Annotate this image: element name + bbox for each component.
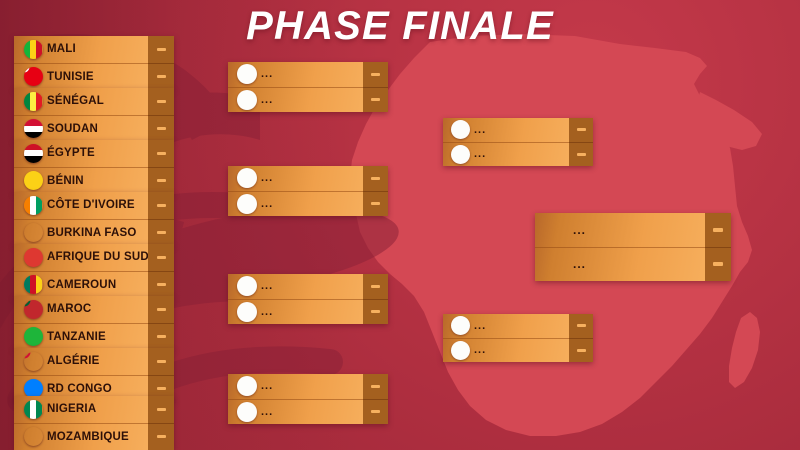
score-panel[interactable]: [363, 374, 388, 424]
team-name-placeholder: ...: [573, 223, 586, 237]
team-name: ÉGYPTE: [47, 147, 95, 159]
score-cell[interactable]: [148, 296, 174, 323]
score-placeholder-dash: [577, 153, 586, 156]
team-name-placeholder: ...: [261, 172, 273, 184]
match-final[interactable]: ... ...: [535, 213, 731, 281]
match-qf-1[interactable]: ... ...: [228, 62, 388, 112]
score-cell[interactable]: [148, 396, 174, 423]
team-row[interactable]: ...: [228, 62, 363, 87]
team-name: BÉNIN: [47, 175, 84, 187]
team-row[interactable]: ...: [228, 87, 363, 113]
score-placeholder-dash: [577, 324, 586, 327]
flag-nigeria-icon: [14, 400, 47, 419]
match-sf-2[interactable]: ... ...: [443, 314, 593, 362]
score-placeholder-dash: [157, 256, 166, 259]
team-row[interactable]: ...: [228, 374, 363, 399]
team-name: TANZANIE: [47, 331, 106, 343]
team-row[interactable]: TUNISIE: [14, 63, 148, 91]
score-cell[interactable]: [363, 62, 388, 87]
team-row[interactable]: ...: [228, 166, 363, 191]
score-placeholder-dash: [371, 285, 380, 288]
flag-placeholder-icon: [228, 276, 261, 296]
score-placeholder-dash: [157, 204, 166, 207]
score-placeholder-dash: [371, 385, 380, 388]
score-placeholder-dash: [371, 73, 380, 76]
flag-cameroun-icon: [14, 275, 47, 294]
team-name-placeholder: ...: [261, 380, 273, 392]
score-cell[interactable]: [705, 247, 731, 282]
score-cell[interactable]: [148, 115, 174, 143]
flag-tanzanie-icon: [14, 327, 47, 346]
match-r16-5[interactable]: AFRIQUE DU SUD CAMEROUN: [14, 244, 174, 298]
score-cell[interactable]: [148, 36, 174, 63]
team-row[interactable]: SOUDAN: [14, 115, 148, 143]
match-sf-1[interactable]: ... ...: [443, 118, 593, 166]
team-name: CAMEROUN: [47, 279, 116, 291]
team-name: MAROC: [47, 303, 91, 315]
team-name-placeholder: ...: [261, 68, 273, 80]
match-qf-4[interactable]: ... ...: [228, 374, 388, 424]
team-row[interactable]: ...: [228, 274, 363, 299]
flag-afrique-du-sud-icon: [14, 248, 47, 267]
team-name: ALGÉRIE: [47, 355, 100, 367]
team-name-placeholder: ...: [261, 198, 273, 210]
score-cell[interactable]: [148, 423, 174, 450]
team-row[interactable]: ...: [535, 247, 705, 282]
match-qf-3[interactable]: ... ...: [228, 274, 388, 324]
team-name-placeholder: ...: [261, 280, 273, 292]
team-name: AFRIQUE DU SUD: [47, 251, 148, 263]
score-cell[interactable]: [363, 399, 388, 425]
score-panel[interactable]: [363, 166, 388, 216]
score-panel[interactable]: [569, 118, 593, 166]
score-placeholder-dash: [713, 228, 723, 232]
score-placeholder-dash: [371, 410, 380, 413]
score-cell[interactable]: [148, 348, 174, 375]
team-row[interactable]: ...: [535, 213, 705, 247]
flag-placeholder-icon: [228, 90, 261, 110]
match-r16-2[interactable]: SÉNÉGAL SOUDAN: [14, 88, 174, 142]
team-row[interactable]: ALGÉRIE: [14, 348, 148, 375]
score-placeholder-dash: [577, 349, 586, 352]
score-panel[interactable]: [569, 314, 593, 362]
flag-placeholder-icon: [228, 64, 261, 84]
flag-placeholder-icon: [228, 302, 261, 322]
team-row[interactable]: ...: [443, 314, 569, 338]
flag-placeholder-icon: [228, 376, 261, 396]
score-placeholder-dash: [157, 75, 166, 78]
team-row[interactable]: BÉNIN: [14, 167, 148, 195]
team-name-placeholder: ...: [474, 124, 486, 136]
team-row[interactable]: ...: [228, 191, 363, 217]
flag-egypte-icon: [14, 144, 47, 163]
score-placeholder-dash: [371, 202, 380, 205]
score-panel[interactable]: [148, 140, 174, 194]
team-row[interactable]: ...: [228, 399, 363, 425]
flag-placeholder-icon: [443, 316, 474, 335]
team-name-placeholder: ...: [261, 306, 273, 318]
score-placeholder-dash: [157, 283, 166, 286]
score-cell[interactable]: [363, 274, 388, 299]
score-cell[interactable]: [569, 142, 593, 167]
score-cell[interactable]: [363, 191, 388, 217]
team-row[interactable]: MAROC: [14, 296, 148, 323]
score-cell[interactable]: [148, 271, 174, 299]
score-panel[interactable]: [148, 192, 174, 246]
score-panel[interactable]: [363, 62, 388, 112]
team-name: SÉNÉGAL: [47, 95, 104, 107]
flag-benin-icon: [14, 171, 47, 190]
flag-algerie-icon: [14, 352, 47, 371]
match-r16-4[interactable]: CÔTE D'IVOIRE BURKINA FASO: [14, 192, 174, 246]
score-placeholder-dash: [157, 408, 166, 411]
flag-soudan-icon: [14, 119, 47, 138]
score-panel[interactable]: [148, 88, 174, 142]
flag-mali-icon: [14, 40, 47, 59]
team-name: MOZAMBIQUE: [47, 431, 129, 443]
score-placeholder-dash: [157, 387, 166, 390]
score-placeholder-dash: [157, 100, 166, 103]
score-placeholder-dash: [371, 310, 380, 313]
score-cell[interactable]: [148, 192, 174, 219]
team-name-placeholder: ...: [261, 94, 273, 106]
team-name: CÔTE D'IVOIRE: [47, 199, 135, 211]
flag-burkina-faso-icon: [14, 223, 47, 242]
score-panel[interactable]: [148, 36, 174, 90]
score-cell[interactable]: [363, 299, 388, 325]
flag-placeholder-icon: [443, 341, 474, 360]
team-row[interactable]: BURKINA FASO: [14, 219, 148, 247]
team-row[interactable]: ...: [443, 142, 569, 167]
score-panel[interactable]: [148, 244, 174, 298]
flag-placeholder-icon: [443, 145, 474, 164]
team-row[interactable]: ÉGYPTE: [14, 140, 148, 167]
score-cell[interactable]: [705, 213, 731, 247]
flag-placeholder-icon: [228, 402, 261, 422]
score-cell[interactable]: [569, 118, 593, 142]
team-name: TUNISIE: [47, 71, 94, 83]
team-row[interactable]: MOZAMBIQUE: [14, 423, 148, 450]
score-panel[interactable]: [148, 296, 174, 350]
score-placeholder-dash: [157, 308, 166, 311]
team-name-placeholder: ...: [474, 148, 486, 160]
flag-senegal-icon: [14, 92, 47, 111]
match-r16-3[interactable]: ÉGYPTE BÉNIN: [14, 140, 174, 194]
score-placeholder-dash: [371, 98, 380, 101]
match-r16-8[interactable]: NIGERIA MOZAMBIQUE: [14, 396, 174, 450]
team-name-placeholder: ...: [474, 320, 486, 332]
flag-tunisie-icon: [14, 67, 47, 86]
score-panel[interactable]: [148, 348, 174, 402]
team-row[interactable]: TANZANIE: [14, 323, 148, 351]
match-r16-7[interactable]: ALGÉRIE RD CONGO: [14, 348, 174, 402]
team-name: NIGERIA: [47, 403, 96, 415]
score-placeholder-dash: [157, 152, 166, 155]
score-placeholder-dash: [157, 179, 166, 182]
score-placeholder-dash: [157, 127, 166, 130]
team-row[interactable]: ...: [443, 338, 569, 363]
score-cell[interactable]: [148, 88, 174, 115]
team-name: MALI: [47, 43, 76, 55]
flag-placeholder-icon: [228, 194, 261, 214]
score-placeholder-dash: [713, 262, 723, 266]
score-cell[interactable]: [363, 166, 388, 191]
flag-placeholder-icon: [443, 120, 474, 139]
team-row[interactable]: CAMEROUN: [14, 271, 148, 299]
flag-cote-divoire-icon: [14, 196, 47, 215]
score-panel[interactable]: [363, 274, 388, 324]
score-cell[interactable]: [569, 314, 593, 338]
score-panel[interactable]: [705, 213, 731, 281]
score-cell[interactable]: [148, 167, 174, 195]
score-cell[interactable]: [363, 87, 388, 113]
flag-placeholder-icon: [228, 168, 261, 188]
team-row[interactable]: SÉNÉGAL: [14, 88, 148, 115]
score-placeholder-dash: [157, 435, 166, 438]
score-cell[interactable]: [148, 63, 174, 91]
score-cell[interactable]: [148, 140, 174, 167]
team-row[interactable]: AFRIQUE DU SUD: [14, 244, 148, 271]
team-row[interactable]: CÔTE D'IVOIRE: [14, 192, 148, 219]
flag-mozambique-icon: [14, 427, 47, 446]
flag-maroc-icon: [14, 300, 47, 319]
match-r16-6[interactable]: MAROC TANZANIE: [14, 296, 174, 350]
match-qf-2[interactable]: ... ...: [228, 166, 388, 216]
team-name-placeholder: ...: [474, 344, 486, 356]
team-name-placeholder: ...: [573, 257, 586, 271]
score-placeholder-dash: [157, 360, 166, 363]
team-name: RD CONGO: [47, 383, 112, 395]
team-name: BURKINA FASO: [47, 227, 137, 239]
score-panel[interactable]: [148, 396, 174, 450]
score-cell[interactable]: [148, 323, 174, 351]
team-row[interactable]: NIGERIA: [14, 396, 148, 423]
team-row[interactable]: ...: [228, 299, 363, 325]
team-row[interactable]: ...: [443, 118, 569, 142]
score-cell[interactable]: [148, 219, 174, 247]
score-placeholder-dash: [371, 177, 380, 180]
match-r16-1[interactable]: MALI TUNISIE: [14, 36, 174, 90]
bracket-page: PHASE FINALE MALI TUNISIE SÉNÉGAL: [0, 0, 800, 450]
score-cell[interactable]: [148, 244, 174, 271]
team-row[interactable]: MALI: [14, 36, 148, 63]
team-name-placeholder: ...: [261, 406, 273, 418]
score-cell[interactable]: [569, 338, 593, 363]
score-cell[interactable]: [363, 374, 388, 399]
score-placeholder-dash: [577, 128, 586, 131]
score-placeholder-dash: [157, 335, 166, 338]
team-name: SOUDAN: [47, 123, 98, 135]
score-placeholder-dash: [157, 48, 166, 51]
score-placeholder-dash: [157, 231, 166, 234]
